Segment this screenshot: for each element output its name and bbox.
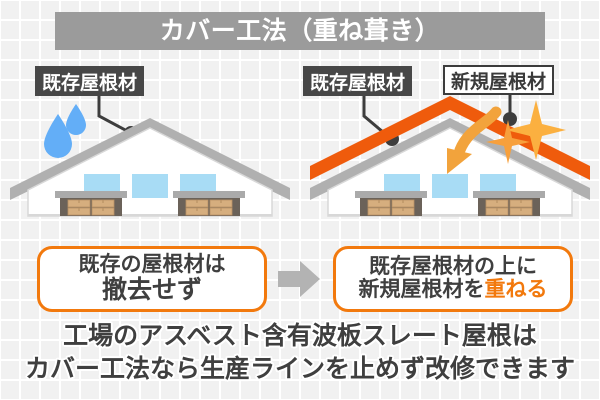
statement-right-line2: 新規屋根材を重ねる <box>359 279 548 302</box>
label-existing-roof-left: 既存屋根材 <box>35 66 144 96</box>
right-arrow-icon <box>276 256 322 302</box>
page-title: カバー工法（重ね葺き） <box>160 19 441 44</box>
statement-left-line1: 既存の屋根材は <box>79 254 226 277</box>
label-new-roof-text: 新規屋根材 <box>451 67 546 94</box>
caption: 工場のアスベスト含有波板スレート屋根は カバー工法なら生産ラインを止めず改修でき… <box>0 320 600 386</box>
label-new-roof: 新規屋根材 <box>443 65 554 95</box>
label-existing-roof-right-text: 既存屋根材 <box>310 68 405 95</box>
title-banner: カバー工法（重ね葺き） <box>55 12 545 50</box>
statement-right-line2-prefix: 新規屋根材を <box>359 278 485 301</box>
window <box>132 174 168 198</box>
statement-box-left: 既存の屋根材は 撤去せず <box>37 246 267 312</box>
label-existing-roof-right: 既存屋根材 <box>303 66 412 96</box>
statement-left-line2: 撤去せず <box>102 277 202 304</box>
statement-box-right: 既存屋根材の上に 新規屋根材を重ねる <box>333 246 573 312</box>
caption-line1: 工場のアスベスト含有波板スレート屋根は <box>0 320 600 353</box>
label-existing-roof-left-text: 既存屋根材 <box>42 68 137 95</box>
illustration-existing-roof <box>0 96 300 246</box>
illustration-cover-method <box>300 96 600 246</box>
window <box>432 174 468 198</box>
infographic-canvas: カバー工法（重ね葺き） 既存屋根材 既存屋根材 新規屋根材 <box>0 0 600 400</box>
statement-right-line2-highlight: 重ねる <box>485 278 548 301</box>
water-drop-icon <box>66 104 86 135</box>
caption-line2: カバー工法なら生産ラインを止めず改修できます <box>0 353 600 386</box>
statement-right-line1: 既存屋根材の上に <box>369 256 537 279</box>
